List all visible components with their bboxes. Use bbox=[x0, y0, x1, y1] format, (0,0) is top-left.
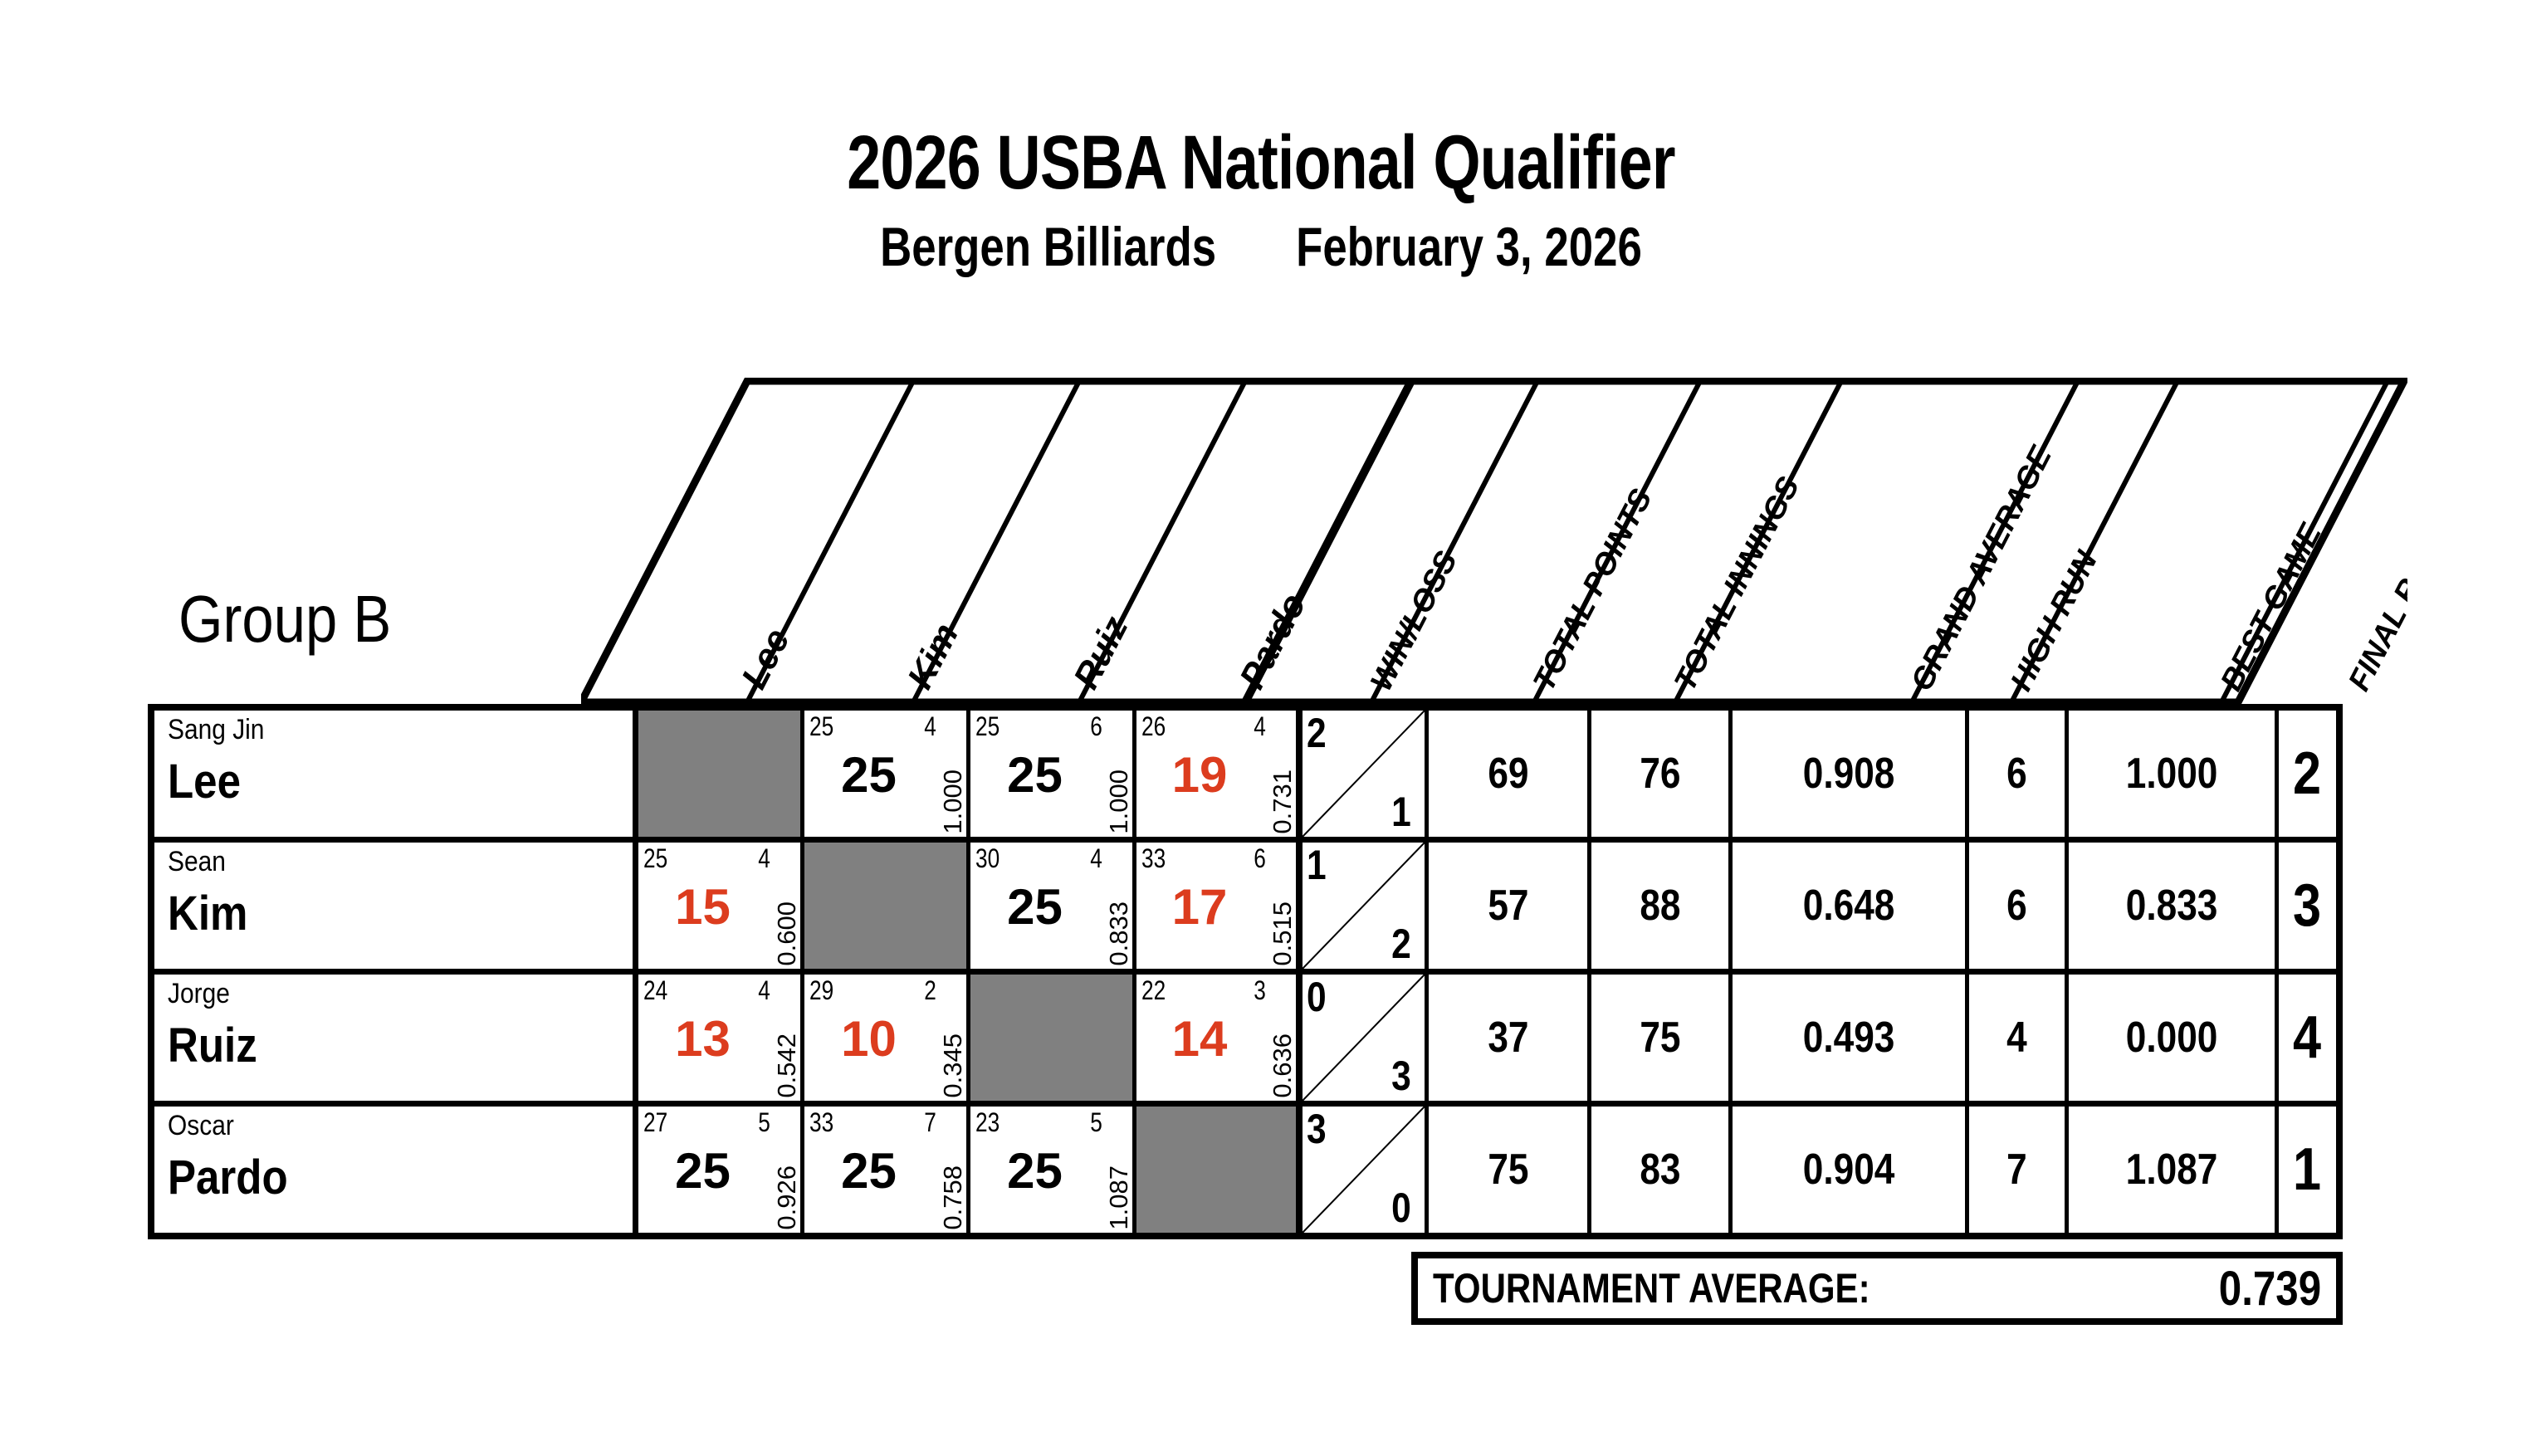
player-first-name: Jorge bbox=[168, 978, 230, 1010]
opponent-points: 25 bbox=[809, 711, 833, 742]
match-cell[interactable]: 24 4 13 0.542 bbox=[638, 975, 804, 1101]
match-cell[interactable]: 23 5 25 1.087 bbox=[970, 1107, 1136, 1233]
high-run-value: 6 bbox=[2006, 749, 2027, 799]
best-game-cell: 0.000 bbox=[2069, 975, 2279, 1101]
match-average: 1.000 bbox=[1102, 770, 1136, 834]
best-game-value: 1.087 bbox=[2126, 1145, 2218, 1195]
subtitle-row: Bergen Billiards February 3, 2026 bbox=[252, 219, 2270, 274]
match-score: 25 bbox=[804, 1146, 933, 1196]
high-run-cell: 6 bbox=[1969, 711, 2069, 837]
page-title: 2026 USBA National Qualifier bbox=[252, 125, 2270, 201]
opponent-points: 24 bbox=[643, 975, 667, 1006]
match-innings: 4 bbox=[1254, 711, 1266, 742]
best-game-cell: 1.000 bbox=[2069, 711, 2279, 837]
opponent-points: 30 bbox=[975, 843, 1000, 874]
final-ranking-cell: 4 bbox=[2279, 975, 2336, 1101]
match-cell[interactable]: 33 6 17 0.515 bbox=[1136, 843, 1303, 969]
high-run-cell: 7 bbox=[1969, 1107, 2069, 1233]
opponent-points: 26 bbox=[1141, 711, 1166, 742]
match-score: 15 bbox=[638, 882, 767, 932]
player-first-name: Oscar bbox=[168, 1110, 234, 1142]
title-block: 2026 USBA National Qualifier Bergen Bill… bbox=[0, 125, 2522, 274]
match-cell[interactable]: 26 4 19 0.731 bbox=[1136, 711, 1303, 837]
match-innings: 6 bbox=[1254, 843, 1266, 874]
total-innings-cell: 75 bbox=[1591, 975, 1733, 1101]
player-name-cell: Oscar Pardo bbox=[154, 1107, 638, 1233]
win-loss-cell: 0 3 bbox=[1303, 975, 1429, 1101]
total-innings-value: 75 bbox=[1640, 1013, 1680, 1063]
header-band-outline bbox=[581, 381, 2404, 702]
opponent-points: 27 bbox=[643, 1107, 667, 1138]
match-innings: 4 bbox=[1090, 843, 1102, 874]
match-score: 10 bbox=[804, 1014, 933, 1064]
match-cell-self bbox=[804, 843, 970, 969]
slanted-column-headers: Lee Kim Ruiz Pardo WIN/LOSS TOTAL POINTS… bbox=[581, 378, 2407, 706]
match-average: 1.087 bbox=[1102, 1165, 1136, 1230]
grand-average-value: 0.648 bbox=[1803, 881, 1895, 931]
match-innings: 7 bbox=[924, 1107, 936, 1138]
match-average: 0.600 bbox=[770, 901, 804, 966]
match-average: 1.000 bbox=[936, 770, 970, 834]
wins-count: 3 bbox=[1307, 1105, 1327, 1153]
standings-table: Sang Jin Lee 25 4 25 1.000 25 6 25 1.000… bbox=[148, 704, 2343, 1239]
player-last-name: Kim bbox=[168, 886, 247, 941]
opponent-points: 33 bbox=[1141, 843, 1166, 874]
table-row: Oscar Pardo 27 5 25 0.926 33 7 25 0.758 … bbox=[154, 1107, 2336, 1233]
match-cell[interactable]: 33 7 25 0.758 bbox=[804, 1107, 970, 1233]
grand-average-value: 0.904 bbox=[1803, 1145, 1895, 1195]
grand-average-cell: 0.493 bbox=[1733, 975, 1969, 1101]
table-row: Sang Jin Lee 25 4 25 1.000 25 6 25 1.000… bbox=[154, 711, 2336, 843]
match-average: 0.833 bbox=[1102, 901, 1136, 966]
match-innings: 3 bbox=[1254, 975, 1266, 1006]
total-innings-cell: 88 bbox=[1591, 843, 1733, 969]
final-ranking-cell: 1 bbox=[2279, 1107, 2336, 1233]
grand-average-cell: 0.648 bbox=[1733, 843, 1969, 969]
final-ranking-cell: 2 bbox=[2279, 711, 2336, 837]
header-label-final-ranking: FINAL RANKING bbox=[2342, 466, 2407, 696]
best-game-value: 0.833 bbox=[2126, 881, 2218, 931]
best-game-cell: 1.087 bbox=[2069, 1107, 2279, 1233]
match-average: 0.345 bbox=[936, 1033, 970, 1098]
match-innings: 5 bbox=[758, 1107, 770, 1138]
high-run-value: 6 bbox=[2006, 881, 2027, 931]
grand-average-value: 0.908 bbox=[1803, 749, 1895, 799]
tournament-average-value: 0.739 bbox=[2219, 1261, 2321, 1317]
match-innings: 4 bbox=[758, 843, 770, 874]
match-innings: 4 bbox=[924, 711, 936, 742]
match-score: 25 bbox=[638, 1146, 767, 1196]
player-last-name: Lee bbox=[168, 754, 241, 809]
opponent-points: 29 bbox=[809, 975, 833, 1006]
match-cell-self bbox=[1136, 1107, 1303, 1233]
match-cell-self bbox=[970, 975, 1136, 1101]
match-cell[interactable]: 25 4 15 0.600 bbox=[638, 843, 804, 969]
best-game-value: 1.000 bbox=[2126, 749, 2218, 799]
date-label: February 3, 2026 bbox=[1296, 219, 1642, 274]
win-loss-cell: 2 1 bbox=[1303, 711, 1429, 837]
match-score: 19 bbox=[1136, 750, 1263, 800]
total-innings-cell: 76 bbox=[1591, 711, 1733, 837]
match-cell[interactable]: 25 4 25 1.000 bbox=[804, 711, 970, 837]
match-score: 25 bbox=[970, 750, 1099, 800]
final-ranking-value: 3 bbox=[2293, 872, 2321, 940]
total-innings-cell: 83 bbox=[1591, 1107, 1733, 1233]
total-points-cell: 57 bbox=[1429, 843, 1591, 969]
table-row: Jorge Ruiz 24 4 13 0.542 29 2 10 0.345 2… bbox=[154, 975, 2336, 1107]
opponent-points: 25 bbox=[643, 843, 667, 874]
match-average: 0.515 bbox=[1266, 901, 1299, 966]
best-game-value: 0.000 bbox=[2126, 1013, 2218, 1063]
final-ranking-cell: 3 bbox=[2279, 843, 2336, 969]
match-score: 17 bbox=[1136, 882, 1263, 932]
losses-count: 0 bbox=[1391, 1184, 1411, 1232]
match-average: 0.636 bbox=[1266, 1033, 1299, 1098]
losses-count: 2 bbox=[1391, 920, 1411, 968]
player-first-name: Sang Jin bbox=[168, 714, 264, 746]
total-points-value: 69 bbox=[1488, 749, 1528, 799]
final-ranking-value: 1 bbox=[2293, 1136, 2321, 1204]
high-run-cell: 4 bbox=[1969, 975, 2069, 1101]
win-loss-cell: 3 0 bbox=[1303, 1107, 1429, 1233]
opponent-points: 33 bbox=[809, 1107, 833, 1138]
tournament-average-box: TOURNAMENT AVERAGE: 0.739 bbox=[1411, 1252, 2343, 1325]
player-name-cell: Sean Kim bbox=[154, 843, 638, 969]
wins-count: 0 bbox=[1307, 973, 1327, 1021]
match-innings: 5 bbox=[1090, 1107, 1102, 1138]
grand-average-cell: 0.904 bbox=[1733, 1107, 1969, 1233]
match-score: 14 bbox=[1136, 1014, 1263, 1064]
match-cell[interactable]: 22 3 14 0.636 bbox=[1136, 975, 1303, 1101]
match-score: 25 bbox=[970, 882, 1099, 932]
total-innings-value: 76 bbox=[1640, 749, 1680, 799]
grand-average-value: 0.493 bbox=[1803, 1013, 1895, 1063]
match-cell-self bbox=[638, 711, 804, 837]
match-average: 0.926 bbox=[770, 1165, 804, 1230]
total-points-value: 37 bbox=[1488, 1013, 1528, 1063]
final-ranking-value: 4 bbox=[2293, 1004, 2321, 1072]
match-average: 0.542 bbox=[770, 1033, 804, 1098]
total-innings-value: 88 bbox=[1640, 881, 1680, 931]
match-score: 13 bbox=[638, 1014, 767, 1064]
total-points-cell: 69 bbox=[1429, 711, 1591, 837]
losses-count: 3 bbox=[1391, 1052, 1411, 1100]
losses-count: 1 bbox=[1391, 788, 1411, 836]
player-name-cell: Jorge Ruiz bbox=[154, 975, 638, 1101]
player-name-cell: Sang Jin Lee bbox=[154, 711, 638, 837]
total-points-cell: 37 bbox=[1429, 975, 1591, 1101]
group-label: Group B bbox=[178, 581, 391, 657]
win-loss-cell: 1 2 bbox=[1303, 843, 1429, 969]
match-score: 25 bbox=[970, 1146, 1099, 1196]
high-run-value: 4 bbox=[2006, 1013, 2027, 1063]
final-ranking-value: 2 bbox=[2293, 740, 2321, 808]
table-row: Sean Kim 25 4 15 0.600 30 4 25 0.833 33 … bbox=[154, 843, 2336, 975]
opponent-points: 22 bbox=[1141, 975, 1166, 1006]
match-cell[interactable]: 29 2 10 0.345 bbox=[804, 975, 970, 1101]
match-cell[interactable]: 30 4 25 0.833 bbox=[970, 843, 1136, 969]
wins-count: 1 bbox=[1307, 841, 1327, 889]
player-last-name: Pardo bbox=[168, 1150, 288, 1205]
total-innings-value: 83 bbox=[1640, 1145, 1680, 1195]
opponent-points: 25 bbox=[975, 711, 1000, 742]
opponent-points: 23 bbox=[975, 1107, 1000, 1138]
player-last-name: Ruiz bbox=[168, 1018, 257, 1073]
high-run-cell: 6 bbox=[1969, 843, 2069, 969]
match-score: 25 bbox=[804, 750, 933, 800]
match-innings: 6 bbox=[1090, 711, 1102, 742]
tournament-average-label: TOURNAMENT AVERAGE: bbox=[1433, 1264, 1870, 1312]
total-points-value: 57 bbox=[1488, 881, 1528, 931]
total-points-value: 75 bbox=[1488, 1145, 1528, 1195]
venue-label: Bergen Billiards bbox=[880, 219, 1216, 274]
match-innings: 4 bbox=[758, 975, 770, 1006]
match-cell[interactable]: 27 5 25 0.926 bbox=[638, 1107, 804, 1233]
wins-count: 2 bbox=[1307, 709, 1327, 757]
player-first-name: Sean bbox=[168, 846, 226, 878]
match-cell[interactable]: 25 6 25 1.000 bbox=[970, 711, 1136, 837]
match-average: 0.731 bbox=[1266, 770, 1299, 834]
grand-average-cell: 0.908 bbox=[1733, 711, 1969, 837]
total-points-cell: 75 bbox=[1429, 1107, 1591, 1233]
match-innings: 2 bbox=[924, 975, 936, 1006]
high-run-value: 7 bbox=[2006, 1145, 2027, 1195]
match-average: 0.758 bbox=[936, 1165, 970, 1230]
best-game-cell: 0.833 bbox=[2069, 843, 2279, 969]
